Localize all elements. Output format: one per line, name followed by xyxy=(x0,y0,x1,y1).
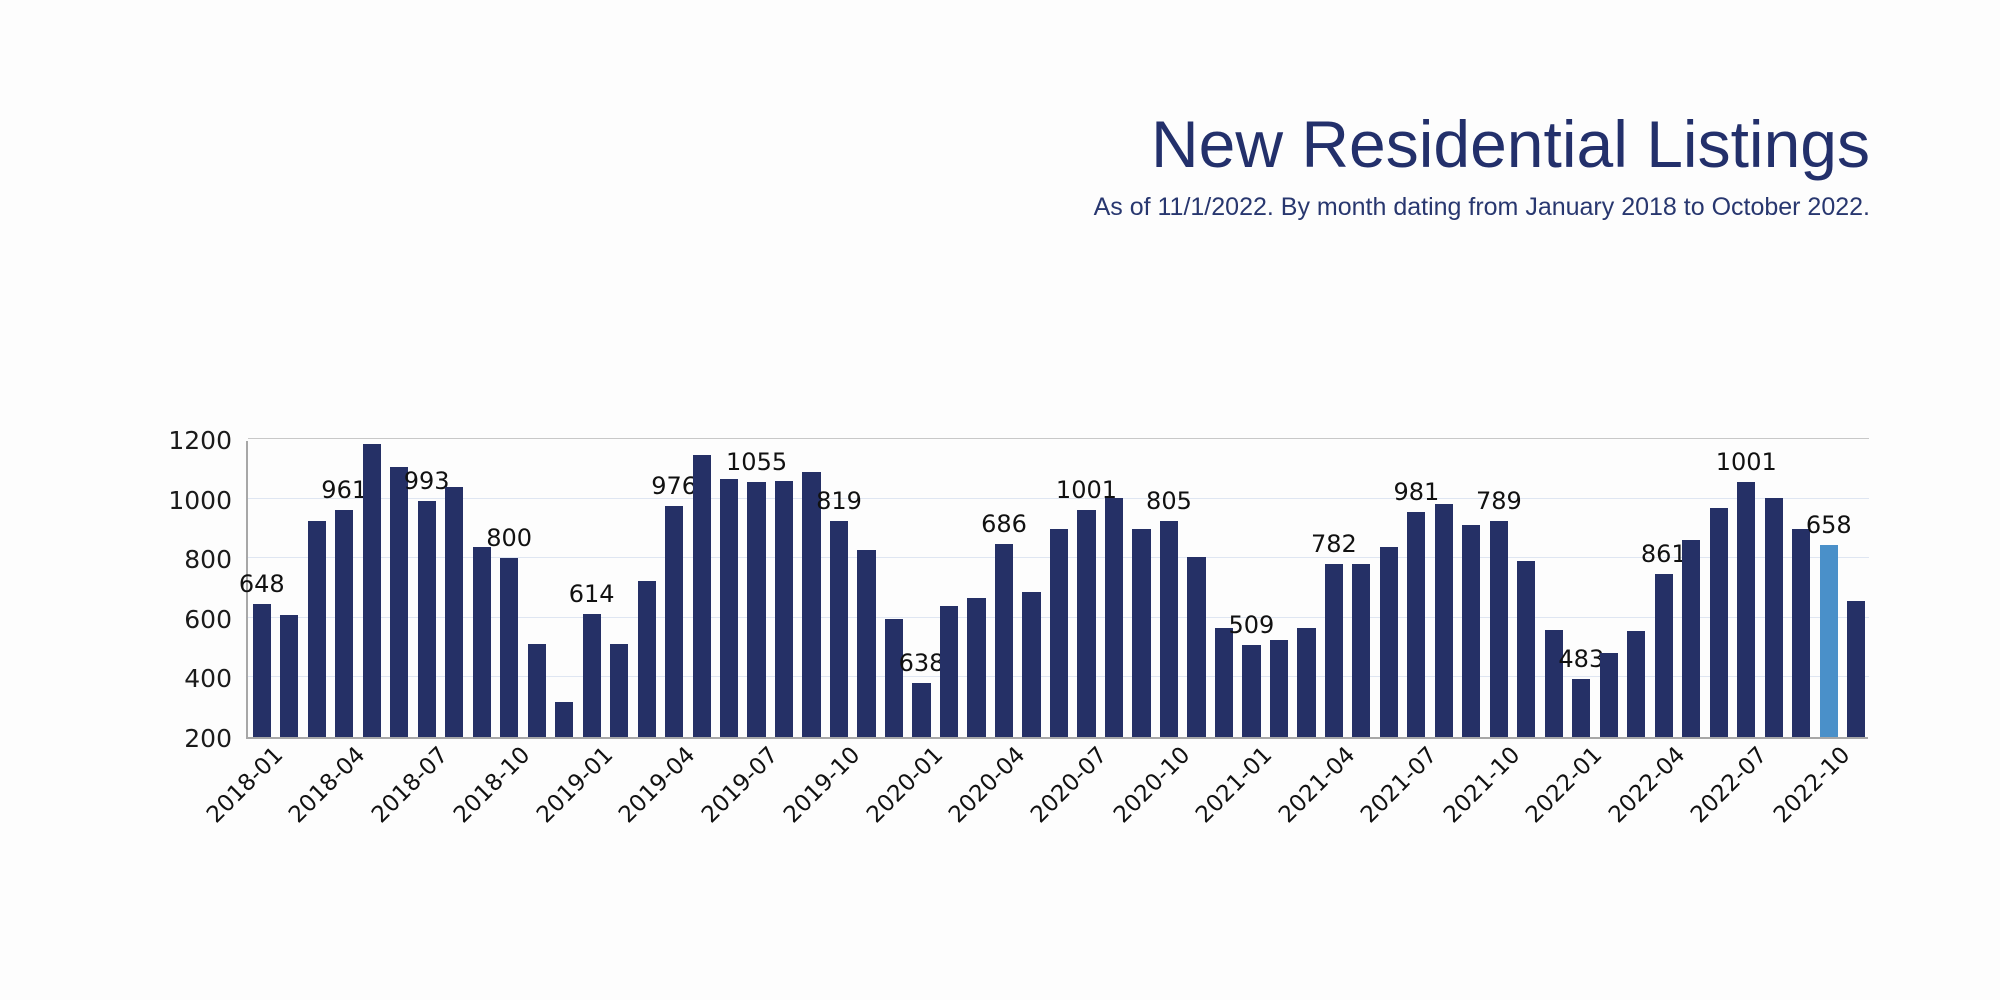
bar-slot xyxy=(1843,441,1870,737)
bar-slot xyxy=(1760,441,1787,737)
y-axis-tick-label: 1200 xyxy=(168,426,232,455)
x-axis-tick-label: 2022-01 xyxy=(1521,742,1607,828)
bar[interactable] xyxy=(1407,512,1425,737)
bar-slot xyxy=(1458,441,1485,737)
bar-slot xyxy=(1430,441,1457,737)
bar-slot xyxy=(963,441,990,737)
bar[interactable] xyxy=(1627,631,1645,737)
x-axis-tick-label: 2018-04 xyxy=(284,742,370,828)
bar-slot xyxy=(358,441,385,737)
bar[interactable] xyxy=(1765,498,1783,737)
bar-slot: 805 xyxy=(1155,441,1182,737)
bar-slot xyxy=(1678,441,1705,737)
bar[interactable] xyxy=(555,702,573,737)
bar[interactable] xyxy=(418,501,436,737)
x-axis-tick-label: 2022-04 xyxy=(1604,742,1690,828)
chart-subtitle: As of 11/1/2022. By month dating from Ja… xyxy=(0,193,1870,222)
bar-slot xyxy=(523,441,550,737)
bar-slot: 686 xyxy=(990,441,1017,737)
bar[interactable] xyxy=(280,615,298,737)
bar[interactable] xyxy=(1270,640,1288,737)
bar[interactable] xyxy=(390,467,408,737)
bar[interactable] xyxy=(1297,628,1315,737)
bar-slot xyxy=(770,441,797,737)
bar[interactable] xyxy=(473,547,491,737)
x-axis-tick-label: 2022-10 xyxy=(1769,742,1855,828)
bar-slot: 1001 xyxy=(1073,441,1100,737)
bar-slot: 614 xyxy=(578,441,605,737)
bar[interactable] xyxy=(1187,557,1205,737)
x-axis-tick-label: 2019-10 xyxy=(779,742,865,828)
x-axis-tick-label: 2019-07 xyxy=(697,742,783,828)
x-axis-tick-label: 2018-07 xyxy=(367,742,453,828)
bar[interactable] xyxy=(912,683,930,737)
bar[interactable] xyxy=(1462,525,1480,737)
bar[interactable] xyxy=(583,614,601,737)
y-axis-tick-label: 1000 xyxy=(168,486,232,515)
chart-header: New Residential Listings As of 11/1/2022… xyxy=(0,110,1870,222)
bar-slot xyxy=(440,441,467,737)
bar[interactable] xyxy=(995,544,1013,737)
bar[interactable] xyxy=(1352,564,1370,737)
bar[interactable] xyxy=(1682,540,1700,737)
bar-slot: 648 xyxy=(248,441,275,737)
x-axis-tick-label: 2020-04 xyxy=(944,742,1030,828)
bar-slot xyxy=(1705,441,1732,737)
bar-slot xyxy=(1788,441,1815,737)
bar-slot: 800 xyxy=(495,441,522,737)
bar-slot: 789 xyxy=(1485,441,1512,737)
bar-slot xyxy=(1513,441,1540,737)
bar[interactable] xyxy=(500,558,518,737)
bar[interactable] xyxy=(857,550,875,737)
gridline xyxy=(248,438,1869,439)
bar-slot xyxy=(1265,441,1292,737)
x-axis-tick-label: 2020-10 xyxy=(1109,742,1195,828)
bar[interactable] xyxy=(693,455,711,738)
y-axis-tick-label: 400 xyxy=(184,664,232,693)
bar[interactable] xyxy=(665,506,683,737)
bar-slot xyxy=(1293,441,1320,737)
bar-slot xyxy=(1100,441,1127,737)
bar-slot xyxy=(468,441,495,737)
x-axis-tick-label: 2021-01 xyxy=(1191,742,1277,828)
bar-slot: 638 xyxy=(908,441,935,737)
bar[interactable] xyxy=(1490,521,1508,737)
x-axis-tick-label: 2020-01 xyxy=(862,742,948,828)
x-axis-tick-label: 2019-04 xyxy=(614,742,700,828)
bar-slot: 1001 xyxy=(1733,441,1760,737)
plot-area: 6489619938006149761055819638686100180550… xyxy=(246,441,1868,739)
bar[interactable] xyxy=(1847,601,1865,737)
bar[interactable] xyxy=(610,644,628,737)
bar[interactable] xyxy=(308,521,326,737)
bar[interactable] xyxy=(1572,679,1590,737)
chart-plot-wrapper: 20040060080010001200 6489619938006149761… xyxy=(168,430,1868,750)
bar-slot: 509 xyxy=(1238,441,1265,737)
bar[interactable] xyxy=(1710,508,1728,737)
bar[interactable] xyxy=(1215,628,1233,737)
x-axis-tick-label: 2021-04 xyxy=(1274,742,1360,828)
bar[interactable] xyxy=(1517,561,1535,737)
bar[interactable] xyxy=(940,606,958,737)
bar[interactable] xyxy=(1022,592,1040,737)
bar[interactable] xyxy=(967,598,985,737)
x-axis-tick-label: 2021-10 xyxy=(1439,742,1525,828)
x-axis-tick-label: 2018-10 xyxy=(449,742,535,828)
x-axis-tick-label: 2021-07 xyxy=(1356,742,1442,828)
bar[interactable] xyxy=(638,581,656,737)
bar[interactable] xyxy=(1655,574,1673,737)
bar-slot xyxy=(880,441,907,737)
bar[interactable] xyxy=(363,444,381,737)
x-axis: 2018-012018-042018-072018-102019-012019-… xyxy=(246,742,1868,872)
bar[interactable] xyxy=(1435,504,1453,737)
bar[interactable] xyxy=(528,644,546,737)
bar-highlighted[interactable] xyxy=(1820,545,1838,737)
bar-slot xyxy=(1183,441,1210,737)
bar-slot xyxy=(688,441,715,737)
bar[interactable] xyxy=(1737,482,1755,737)
bar[interactable] xyxy=(1050,529,1068,737)
bar[interactable] xyxy=(1380,547,1398,737)
bar[interactable] xyxy=(253,604,271,738)
bar-slot: 1055 xyxy=(743,441,770,737)
page-title: New Residential Listings xyxy=(0,110,1870,179)
bar[interactable] xyxy=(747,482,765,737)
y-axis-tick-label: 800 xyxy=(184,545,232,574)
bar-slot xyxy=(798,441,825,737)
bar-slot xyxy=(715,441,742,737)
bar[interactable] xyxy=(1792,529,1810,737)
bar[interactable] xyxy=(1132,529,1150,737)
bar-slot xyxy=(1128,441,1155,737)
bar-slot: 861 xyxy=(1650,441,1677,737)
bar[interactable] xyxy=(1325,564,1343,737)
bar[interactable] xyxy=(720,479,738,737)
y-axis-tick-label: 200 xyxy=(184,724,232,753)
y-axis: 20040060080010001200 xyxy=(168,430,240,738)
x-axis-tick-label: 2018-01 xyxy=(202,742,288,828)
x-axis-tick-label: 2020-07 xyxy=(1027,742,1113,828)
bar-slot xyxy=(1348,441,1375,737)
y-axis-tick-label: 600 xyxy=(184,605,232,634)
bar-slot: 782 xyxy=(1320,441,1347,737)
bar-slot xyxy=(1210,441,1237,737)
bar[interactable] xyxy=(335,510,353,737)
bar-slot xyxy=(1595,441,1622,737)
bar-slot xyxy=(935,441,962,737)
bar-slot xyxy=(1623,441,1650,737)
bar[interactable] xyxy=(885,619,903,737)
bar-slot: 976 xyxy=(660,441,687,737)
bar[interactable] xyxy=(445,487,463,737)
bar-slot xyxy=(853,441,880,737)
bar-slot xyxy=(605,441,632,737)
bar-slot: 981 xyxy=(1403,441,1430,737)
bar-slot: 483 xyxy=(1568,441,1595,737)
bar[interactable] xyxy=(1160,521,1178,737)
bar[interactable] xyxy=(1600,653,1618,737)
x-axis-tick-label: 2022-07 xyxy=(1686,742,1772,828)
bar-slot: 819 xyxy=(825,441,852,737)
bar-slot xyxy=(275,441,302,737)
bar-series: 6489619938006149761055819638686100180550… xyxy=(248,441,1868,737)
bar-slot: 961 xyxy=(330,441,357,737)
bar[interactable] xyxy=(1242,645,1260,737)
bar-slot: 658 xyxy=(1815,441,1842,737)
bar[interactable] xyxy=(775,481,793,737)
bar[interactable] xyxy=(1105,498,1123,737)
chart-page: New Residential Listings As of 11/1/2022… xyxy=(0,0,2000,1000)
x-axis-tick-label: 2019-01 xyxy=(532,742,618,828)
bar-slot xyxy=(1540,441,1567,737)
bar[interactable] xyxy=(830,521,848,737)
bar[interactable] xyxy=(1077,510,1095,737)
bar-slot xyxy=(1018,441,1045,737)
bar-slot: 993 xyxy=(413,441,440,737)
